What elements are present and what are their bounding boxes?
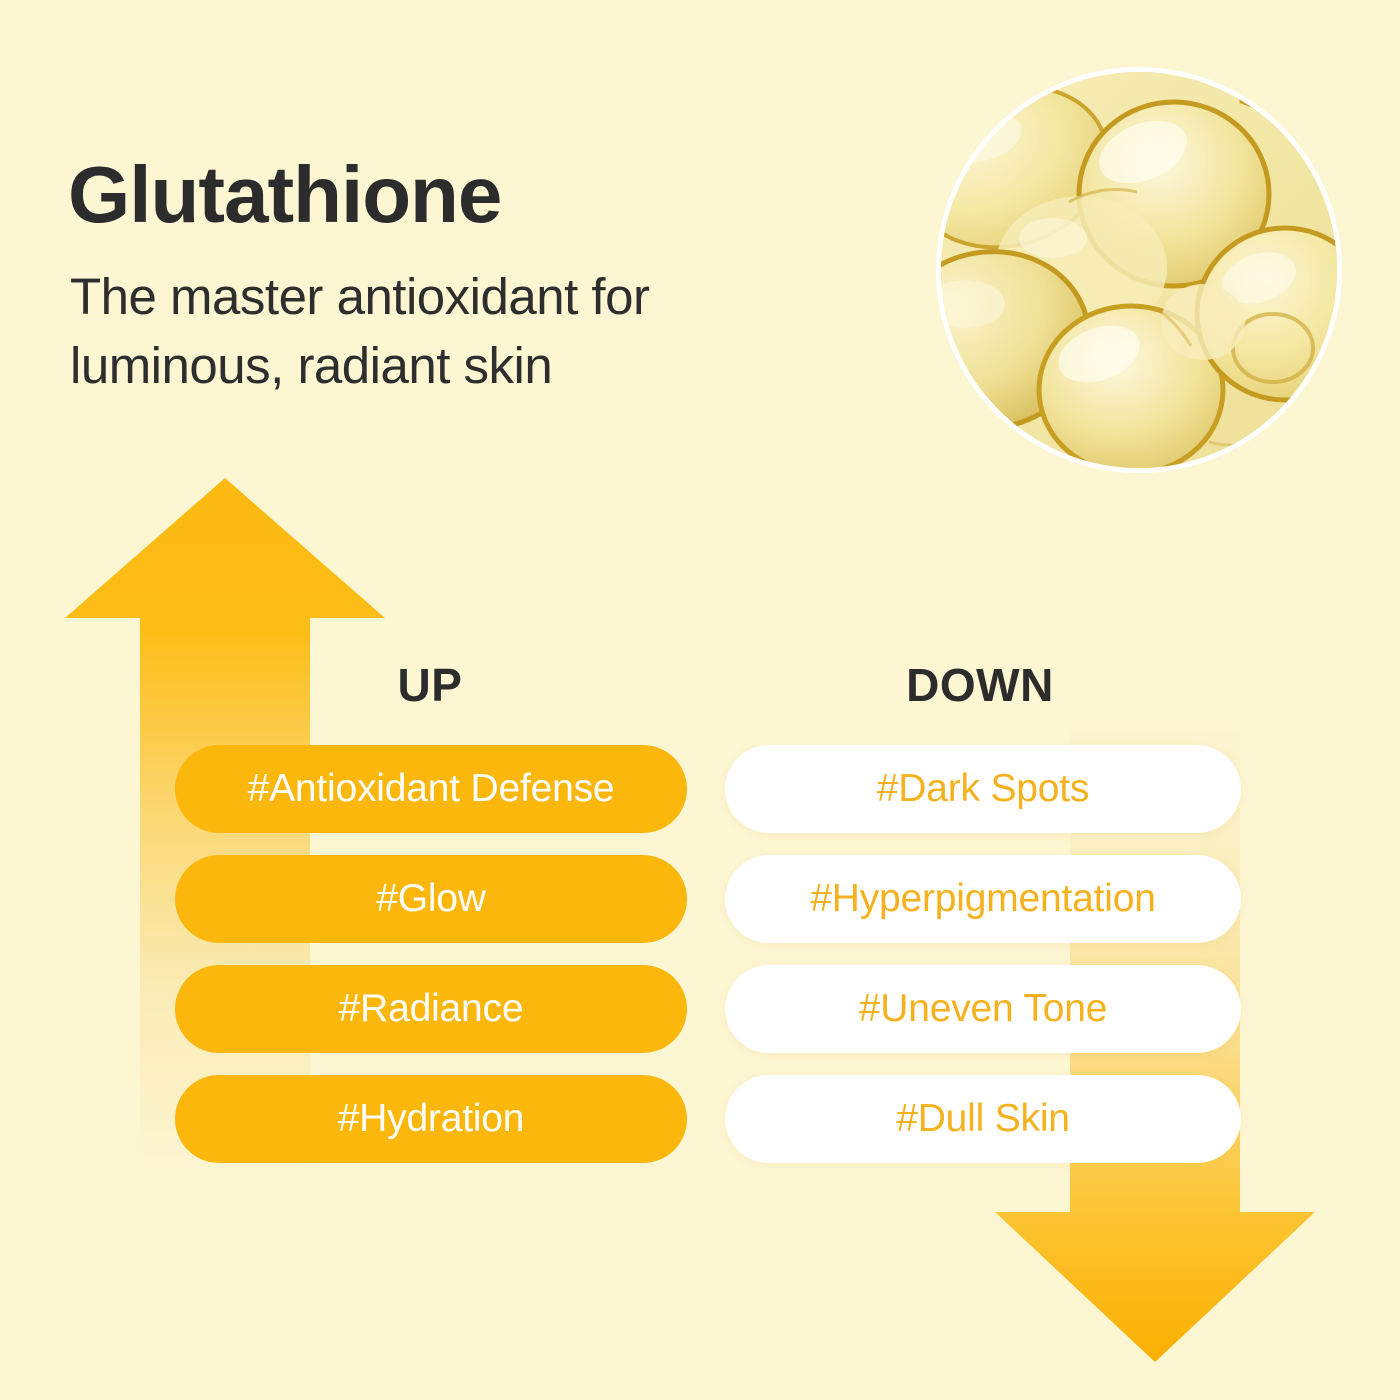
infographic-canvas: Glutathione The master antioxidant for l… xyxy=(0,0,1400,1400)
down-concerns-list: #Dark Spots #Hyperpigmentation #Uneven T… xyxy=(725,745,1241,1185)
column-header-down: DOWN xyxy=(855,658,1105,712)
list-item[interactable]: #Uneven Tone xyxy=(725,965,1241,1053)
capsule-photo-svg xyxy=(941,72,1337,468)
capsule-photo-circle xyxy=(941,72,1337,468)
column-header-up: UP xyxy=(305,658,555,712)
list-item[interactable]: #Radiance xyxy=(175,965,687,1053)
list-item[interactable]: #Dark Spots xyxy=(725,745,1241,833)
list-item[interactable]: #Glow xyxy=(175,855,687,943)
list-item[interactable]: #Antioxidant Defense xyxy=(175,745,687,833)
list-item[interactable]: #Hyperpigmentation xyxy=(725,855,1241,943)
list-item[interactable]: #Dull Skin xyxy=(725,1075,1241,1163)
list-item[interactable]: #Hydration xyxy=(175,1075,687,1163)
page-title: Glutathione xyxy=(68,155,501,235)
page-subtitle: The master antioxidant for luminous, rad… xyxy=(70,263,649,401)
up-benefits-list: #Antioxidant Defense #Glow #Radiance #Hy… xyxy=(175,745,687,1185)
